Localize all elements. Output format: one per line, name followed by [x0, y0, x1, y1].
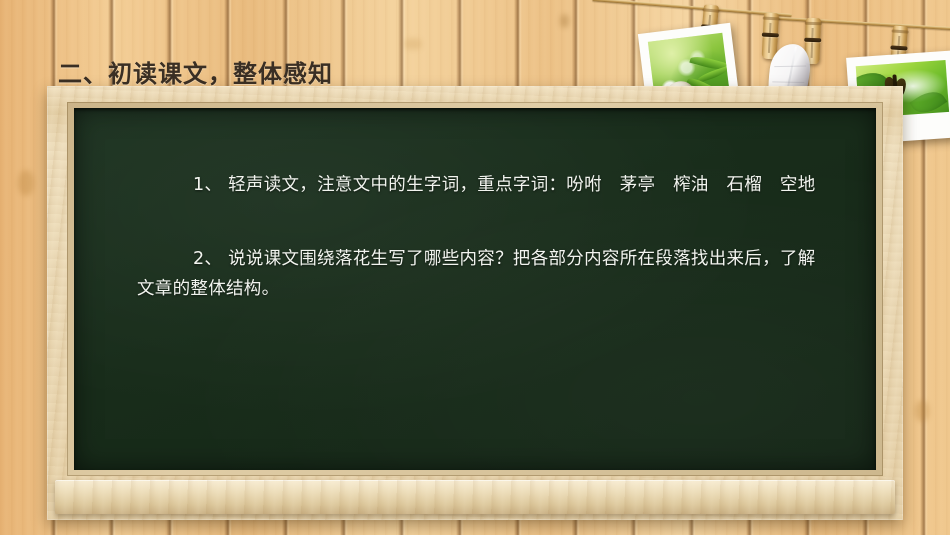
wood-knot: [404, 38, 422, 50]
blackboard-content: 1、 轻声读文，注意文中的生字词，重点字词：吩咐 茅亭 榨油 石榴 空地 2、 …: [137, 170, 828, 304]
board-item-1: 1、 轻声读文，注意文中的生字词，重点字词：吩咐 茅亭 榨油 石榴 空地: [137, 170, 828, 200]
wood-knot: [560, 14, 569, 28]
blackboard-frame: 1、 轻声读文，注意文中的生字词，重点字词：吩咐 茅亭 榨油 石榴 空地 2、 …: [47, 86, 903, 520]
ledge-wood-grain: [55, 480, 895, 514]
slide-canvas: 二、初读课文，整体感知 1、 轻声读文，注意文中的生字词，重点字词：吩咐 茅亭 …: [0, 0, 950, 535]
leaf-shape: [910, 85, 948, 118]
clothespin-spring: [804, 38, 821, 43]
slide-heading: 二、初读课文，整体感知: [58, 54, 333, 89]
board-item-2: 2、 说说课文围绕落花生写了哪些内容？把各部分内容所在段落找出来后，了解文章的整…: [137, 244, 828, 304]
wood-knot: [915, 400, 929, 422]
clothespin-spring: [762, 33, 779, 38]
chalk-ledge: [55, 480, 895, 514]
clothespin-notch: [805, 22, 822, 26]
wood-knot: [18, 170, 34, 196]
blackboard-surface: 1、 轻声读文，注意文中的生字词，重点字词：吩咐 茅亭 榨油 石榴 空地 2、 …: [74, 108, 876, 470]
